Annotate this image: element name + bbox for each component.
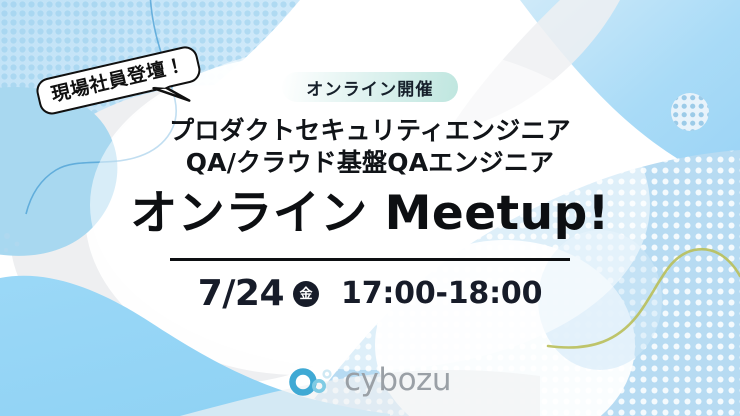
datetime-row: 7/24 金 17:00-18:00 (198, 276, 543, 312)
online-event-badge-label: オンライン開催 (306, 75, 433, 100)
date-group: 7/24 金 (198, 276, 319, 312)
day-of-week-badge: 金 (293, 281, 319, 307)
event-time: 17:00-18:00 (341, 279, 542, 309)
divider (170, 258, 570, 261)
headline: オンライン Meetup! (130, 188, 609, 241)
subtitle-line-2: QA/クラウド基盤QAエンジニア (169, 147, 571, 179)
day-of-week-label: 金 (300, 288, 313, 301)
event-date: 7/24 (198, 276, 284, 312)
subtitle-line-1: プロダクトセキュリティエンジニア (169, 115, 571, 147)
event-banner: 現場社員登壇！ オンライン開催 プロダクトセキュリティエンジニア QA/クラウド… (0, 0, 740, 416)
subtitle-block: プロダクトセキュリティエンジニア QA/クラウド基盤QAエンジニア (169, 115, 571, 179)
online-event-badge: オンライン開催 (282, 72, 458, 102)
